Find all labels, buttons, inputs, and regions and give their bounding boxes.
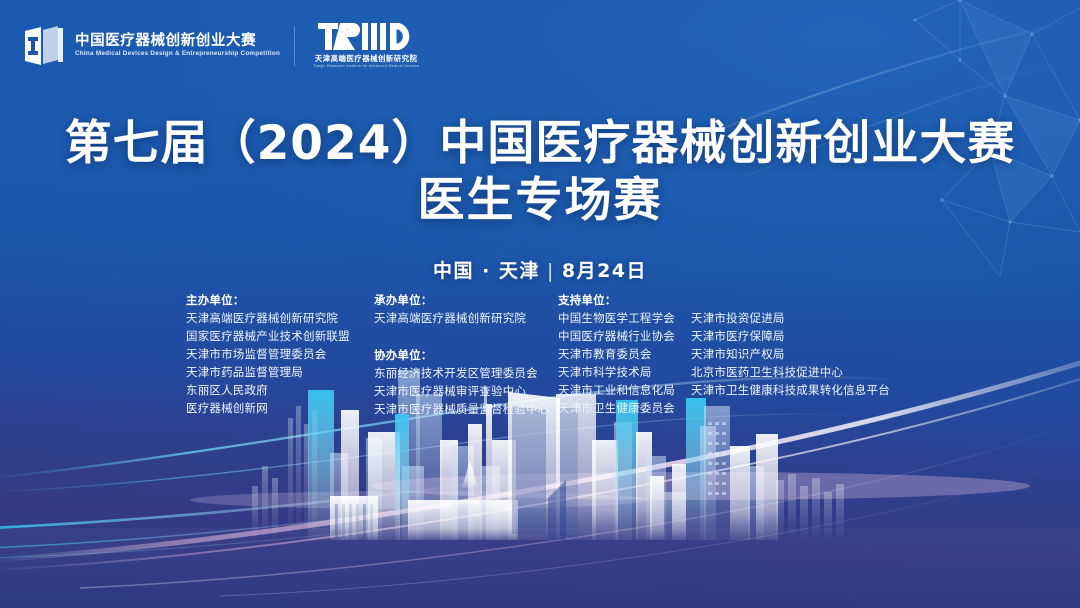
poster-canvas: 中国医疗器械创新创业大赛 China Medical Devices Desig…: [0, 0, 1080, 608]
org-item: 天津市工业和信息化局: [558, 381, 691, 399]
org-item: 中国医疗器械行业协会: [558, 327, 691, 345]
org-heading: 承办单位：: [374, 291, 558, 309]
org-column-supporters-b: 天津市投资促进局 天津市医疗保障局 天津市知识产权局 北京市医药卫生科技促进中心…: [691, 291, 890, 399]
org-item: 东丽经济技术开发区管理委员会: [374, 364, 558, 382]
cmdc-logo-text: 中国医疗器械创新创业大赛 China Medical Devices Desig…: [75, 34, 276, 57]
subtitle-date: 8月24日: [562, 260, 647, 282]
org-heading: 协办单位：: [374, 346, 558, 364]
cmdc-logo-en: China Medical Devices Design & Entrepren…: [75, 51, 280, 57]
org-item: 天津市卫生健康科技成果转化信息平台: [691, 381, 890, 399]
org-heading: 主办单位：: [186, 291, 374, 309]
org-item: 天津市医疗保障局: [691, 327, 890, 345]
triid-wordmark-icon: [318, 22, 414, 52]
subtitle-separator: |: [540, 260, 562, 282]
org-column-organizers: 主办单位： 天津高端医疗器械创新研究院 国家医疗器械产业技术创新联盟 天津市市场…: [186, 291, 374, 417]
logo-divider: [294, 26, 295, 66]
triid-logo-cn: 天津高端医疗器械创新研究院: [315, 55, 418, 62]
org-item: 天津市科学技术局: [558, 363, 691, 381]
org-heading: 支持单位：: [558, 291, 691, 309]
header-logos: 中国医疗器械创新创业大赛 China Medical Devices Desig…: [22, 22, 419, 69]
triid-logo-en: Tianjin Research Institute for Advanced …: [313, 65, 419, 69]
poster-subtitle: 中国 · 天津|8月24日: [0, 256, 1080, 283]
org-heading-spacer: [691, 291, 890, 309]
subtitle-location: 中国 · 天津: [433, 260, 540, 282]
organizations-block: 主办单位： 天津高端医疗器械创新研究院 国家医疗器械产业技术创新联盟 天津市市场…: [186, 291, 946, 418]
org-group: 主办单位： 天津高端医疗器械创新研究院 国家医疗器械产业技术创新联盟 天津市市场…: [186, 291, 374, 417]
title-line-1: 第七届（2024）中国医疗器械创新创业大赛: [0, 116, 1080, 172]
org-item: 中国生物医学工程学会: [558, 309, 691, 327]
triid-logo[interactable]: 天津高端医疗器械创新研究院 Tianjin Research Institute…: [313, 22, 419, 69]
org-item: 医疗器械创新网: [186, 399, 374, 417]
org-item: 天津市教育委员会: [558, 345, 691, 363]
open-door-logo-icon: [22, 24, 66, 68]
org-group: 协办单位： 东丽经济技术开发区管理委员会 天津市医疗器械审评查验中心 天津市医疗…: [374, 346, 558, 418]
org-column-supporters-a: 支持单位： 中国生物医学工程学会 中国医疗器械行业协会 天津市教育委员会 天津市…: [558, 291, 691, 417]
org-item: 天津市医疗器械审评查验中心: [374, 382, 558, 400]
org-group: 天津市投资促进局 天津市医疗保障局 天津市知识产权局 北京市医药卫生科技促进中心…: [691, 291, 890, 399]
cmdc-logo[interactable]: 中国医疗器械创新创业大赛 China Medical Devices Desig…: [22, 24, 276, 68]
org-item: 天津高端医疗器械创新研究院: [374, 309, 558, 327]
org-item: 东丽区人民政府: [186, 381, 374, 399]
org-item: 天津高端医疗器械创新研究院: [186, 309, 374, 327]
org-group: 承办单位： 天津高端医疗器械创新研究院: [374, 291, 558, 327]
org-item: 天津市市场监督管理委员会: [186, 345, 374, 363]
org-item: 国家医疗器械产业技术创新联盟: [186, 327, 374, 345]
org-item: 天津市投资促进局: [691, 309, 890, 327]
org-item: 天津市卫生健康委员会: [558, 399, 691, 417]
title-line-2: 医生专场赛: [0, 172, 1080, 229]
org-column-host-cohost: 承办单位： 天津高端医疗器械创新研究院 协办单位： 东丽经济技术开发区管理委员会…: [374, 291, 558, 418]
org-item: 天津市医疗器械质量监督检验中心: [374, 400, 558, 418]
org-group: 支持单位： 中国生物医学工程学会 中国医疗器械行业协会 天津市教育委员会 天津市…: [558, 291, 691, 417]
poster-title: 第七届（2024）中国医疗器械创新创业大赛 医生专场赛: [0, 116, 1080, 230]
org-item: 天津市药品监督管理局: [186, 363, 374, 381]
org-item: 北京市医药卫生科技促进中心: [691, 363, 890, 381]
cmdc-logo-cn: 中国医疗器械创新创业大赛: [75, 34, 276, 49]
org-item: 天津市知识产权局: [691, 345, 890, 363]
